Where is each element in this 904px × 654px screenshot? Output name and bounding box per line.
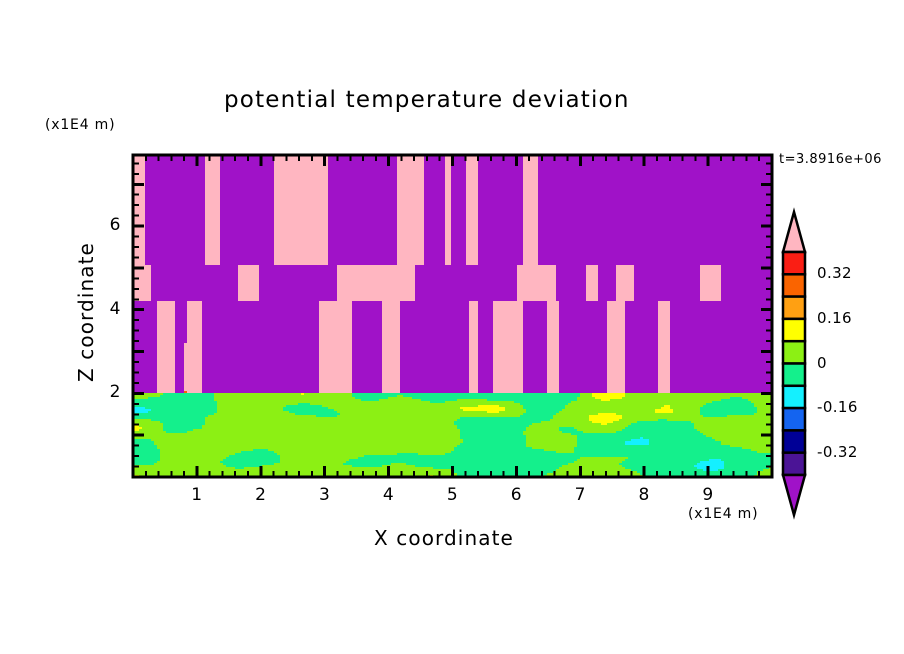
y-tick-label: 2	[91, 382, 121, 402]
colorbar-band	[783, 364, 805, 386]
colorbar-tick-label: -0.32	[817, 443, 858, 461]
figure-canvas: potential temperature deviation (x1E4 m)…	[0, 0, 904, 654]
colorbar-tick-label: -0.16	[817, 398, 858, 416]
x-tick-label: 7	[560, 485, 600, 505]
colorbar-band	[783, 274, 805, 296]
y-tick-label: 6	[91, 215, 121, 235]
colorbar	[783, 212, 805, 515]
x-tick-label: 5	[433, 485, 473, 505]
colorbar-band	[783, 408, 805, 430]
colorbar-band	[783, 319, 805, 341]
colorbar-band	[783, 453, 805, 475]
colorbar-band	[783, 430, 805, 452]
x-tick-label: 3	[305, 485, 345, 505]
colorbar-under-arrow	[783, 475, 805, 515]
colorbar-band	[783, 386, 805, 408]
x-tick-label: 9	[688, 485, 728, 505]
colorbar-tick-label: 0	[817, 354, 827, 372]
x-tick-label: 1	[177, 485, 217, 505]
colorbar-over-arrow	[783, 212, 805, 252]
y-tick-label: 4	[91, 299, 121, 319]
x-tick-label: 6	[496, 485, 536, 505]
x-tick-label: 4	[369, 485, 409, 505]
plot-svg	[0, 0, 904, 654]
colorbar-band	[783, 297, 805, 319]
contour-field	[133, 155, 773, 478]
colorbar-tick-label: 0.32	[817, 264, 852, 282]
colorbar-band	[783, 341, 805, 363]
x-tick-label: 2	[241, 485, 281, 505]
colorbar-band	[783, 252, 805, 274]
x-tick-label: 8	[624, 485, 664, 505]
colorbar-tick-label: 0.16	[817, 309, 852, 327]
